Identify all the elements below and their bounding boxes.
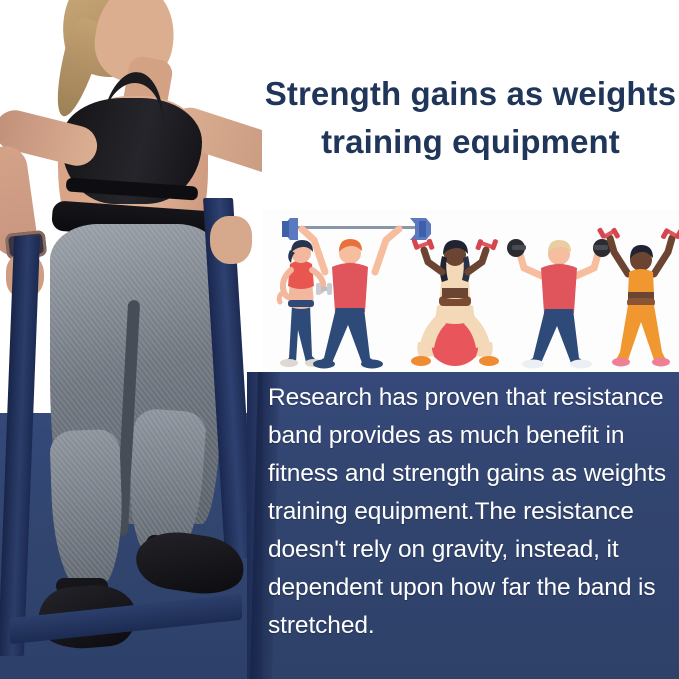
product-infographic: Strength gains as weights training equip… <box>0 0 679 679</box>
model-right-hand <box>210 216 252 264</box>
model-photo <box>0 0 262 679</box>
page-title: Strength gains as weights training equip… <box>262 70 679 166</box>
description-text: Research has proven that resistance band… <box>268 379 670 645</box>
headline-line-2: training equipment <box>262 118 679 166</box>
exercise-illustration-strip <box>262 210 679 375</box>
headline-line-1: Strength gains as weights <box>262 70 679 118</box>
